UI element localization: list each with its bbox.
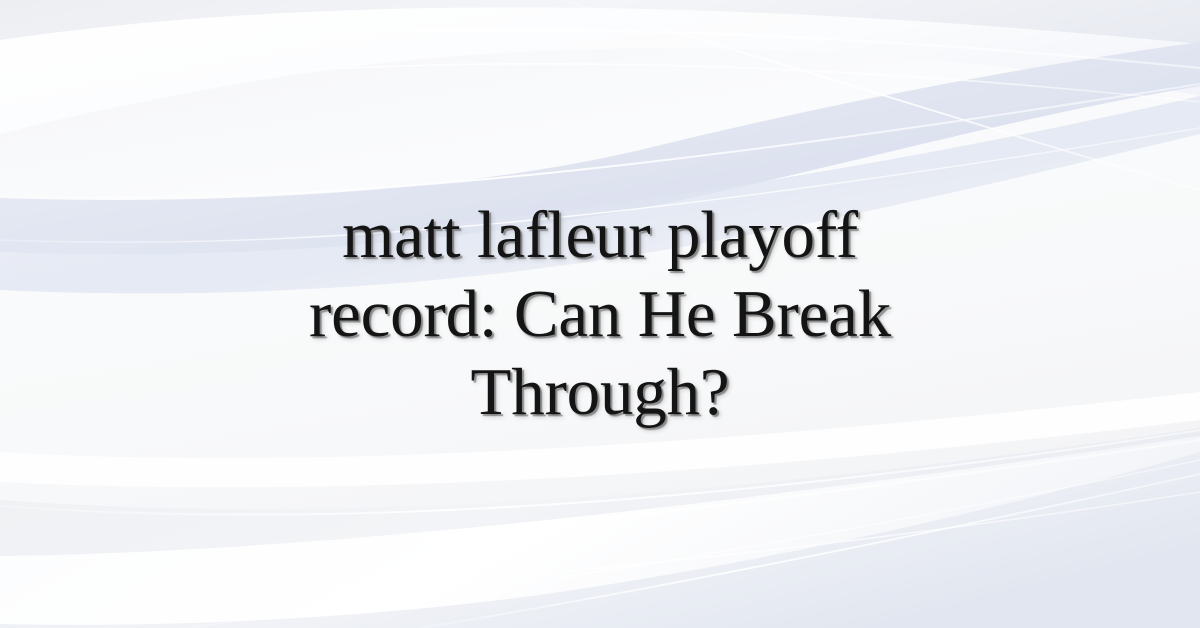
page-title: matt lafleur playoff record: Can He Brea… (250, 196, 950, 431)
headline-container: matt lafleur playoff record: Can He Brea… (0, 0, 1200, 628)
og-card: matt lafleur playoff record: Can He Brea… (0, 0, 1200, 628)
